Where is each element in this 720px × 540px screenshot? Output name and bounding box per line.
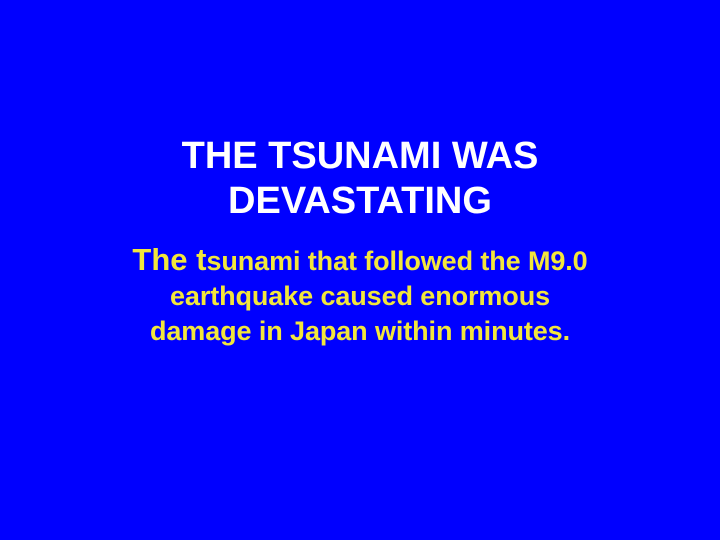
body-line-1-rest: sunami that followed the M9.0: [206, 246, 587, 276]
body-line-1: The tsunami that followed the M9.0: [0, 242, 720, 279]
body-line-2: earthquake caused enormous: [0, 279, 720, 314]
slide-canvas: THE TSUNAMI WAS DEVASTATING The tsunami …: [0, 0, 720, 540]
body-line-1-lead: The t: [132, 242, 206, 277]
slide-body: The tsunami that followed the M9.0 earth…: [0, 242, 720, 349]
slide-title: THE TSUNAMI WAS DEVASTATING: [0, 134, 720, 224]
body-line-3: damage in Japan within minutes.: [0, 314, 720, 349]
title-line-2: DEVASTATING: [0, 179, 720, 224]
title-line-1: THE TSUNAMI WAS: [0, 134, 720, 179]
